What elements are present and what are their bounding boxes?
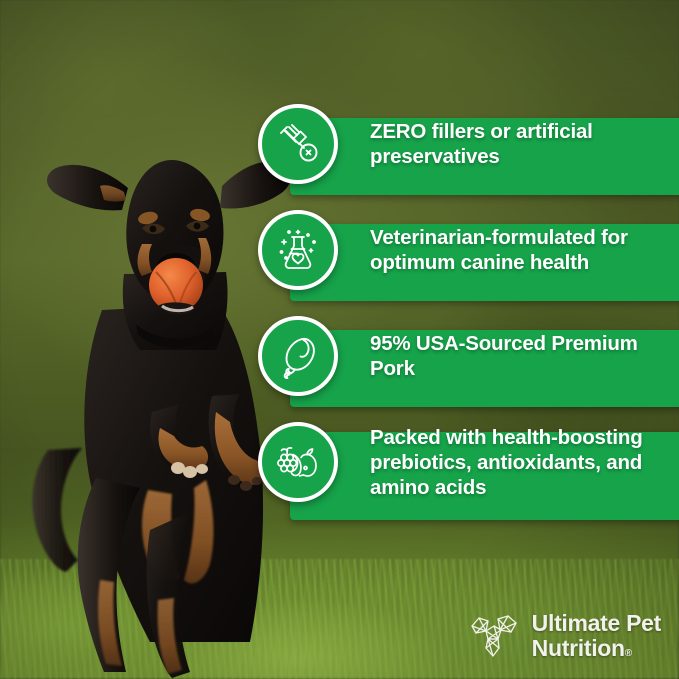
geometric-dog-head-icon — [468, 612, 520, 660]
flask-heart-icon — [273, 225, 323, 275]
dog-photo — [0, 60, 300, 679]
brand-line-2: Nutrition — [532, 635, 625, 661]
fruits-vegetables-icon — [273, 437, 323, 487]
brand-wordmark: Ultimate Pet Nutrition® — [532, 611, 661, 661]
feature-icon-badge — [258, 316, 338, 396]
brand-line-1: Ultimate Pet — [532, 611, 661, 636]
brand-logo: Ultimate Pet Nutrition® — [468, 611, 661, 661]
feature-label: Packed with health-boosting prebiotics, … — [370, 425, 679, 500]
feature-icon-badge — [258, 104, 338, 184]
feature-label: Veterinarian-formulated for optimum cani… — [370, 225, 679, 275]
feature-row: ZERO fillers or artificial preservatives — [258, 104, 679, 184]
registered-trademark: ® — [625, 648, 632, 659]
syringe-no-additives-icon — [273, 119, 323, 169]
ham-pork-leg-icon — [273, 331, 323, 381]
feature-row: Packed with health-boosting prebiotics, … — [258, 422, 679, 502]
product-feature-ad: ZERO fillers or artificial preservatives — [0, 0, 679, 679]
feature-list: ZERO fillers or artificial preservatives — [258, 104, 679, 528]
feature-label: ZERO fillers or artificial preservatives — [370, 119, 679, 169]
feature-label: 95% USA-Sourced Premium Pork — [370, 331, 679, 381]
feature-row: Veterinarian-formulated for optimum cani… — [258, 210, 679, 290]
feature-row: 95% USA-Sourced Premium Pork — [258, 316, 679, 396]
feature-icon-badge — [258, 210, 338, 290]
feature-icon-badge — [258, 422, 338, 502]
